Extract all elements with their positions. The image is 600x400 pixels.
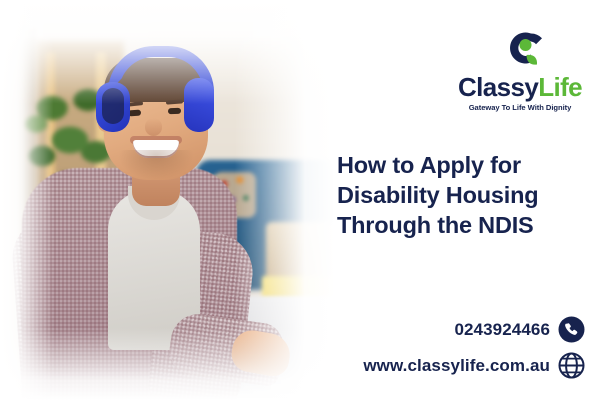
brand-wordmark: ClassyLife (452, 74, 588, 100)
person (0, 0, 335, 400)
brand-logo: ClassyLife Gateway To Life With Dignity (452, 24, 588, 108)
page-title: How to Apply for Disability Housing Thro… (337, 150, 577, 240)
hero-photo (0, 0, 335, 400)
globe-icon[interactable] (558, 352, 585, 379)
website-url[interactable]: www.classylife.com.au (363, 356, 550, 376)
headphone-cushion-left (102, 88, 124, 124)
hero-photo-image (0, 0, 335, 400)
brand-name-part2: Life (538, 72, 582, 102)
headphone-cup-right (184, 78, 214, 132)
headline-line-2: Disability Housing (337, 180, 577, 210)
phone-number[interactable]: 0243924466 (454, 320, 550, 340)
brand-name-part1: Classy (458, 72, 538, 102)
chin-shadow (118, 150, 194, 180)
contact-row-phone[interactable]: 0243924466 (330, 316, 585, 343)
nose (145, 118, 162, 136)
headline-line-1: How to Apply for (337, 150, 577, 180)
contact-block: 0243924466 www.classylife.com.au (330, 316, 585, 388)
classylife-logo-icon (492, 24, 548, 72)
contact-row-website[interactable]: www.classylife.com.au (330, 352, 585, 379)
brand-tagline: Gateway To Life With Dignity (452, 103, 588, 112)
headline-line-3: Through the NDIS (337, 210, 577, 240)
promo-banner: ClassyLife Gateway To Life With Dignity … (0, 0, 600, 400)
phone-icon[interactable] (558, 316, 585, 343)
eye-right (168, 108, 181, 115)
